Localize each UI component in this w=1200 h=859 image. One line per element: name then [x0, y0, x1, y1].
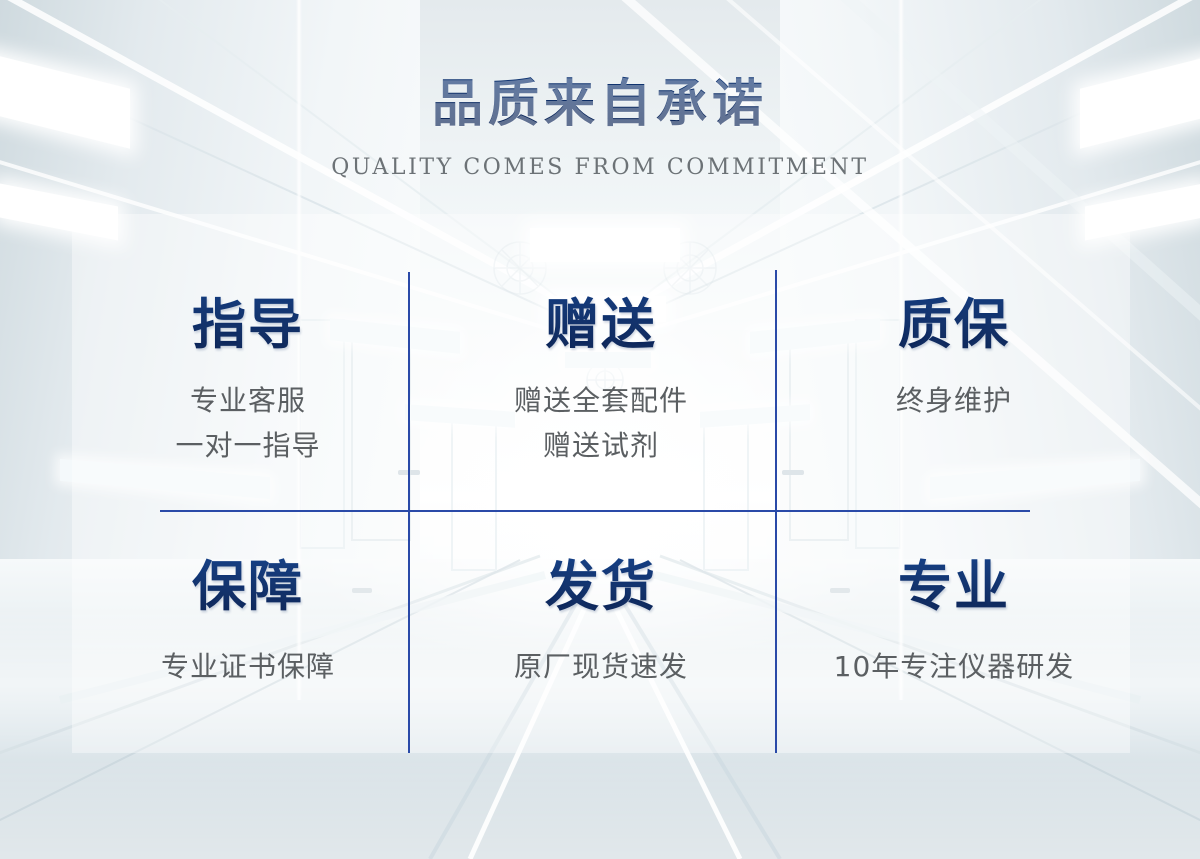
feature-description-line: 10年专注仪器研发 [778, 644, 1130, 689]
feature-description: 10年专注仪器研发 [778, 644, 1130, 689]
feature-description-line: 赠送全套配件 [425, 378, 777, 423]
feature-heading: 赠送 [425, 214, 777, 352]
feature-cell-expertise: 专业 10年专注仪器研发 [778, 500, 1130, 689]
feature-description: 终身维护 [778, 378, 1130, 423]
page-title: 品质来自承诺 [0, 0, 1200, 136]
page-subtitle: QUALITY COMES FROM COMMITMENT [0, 155, 1200, 180]
feature-heading: 指导 [72, 214, 424, 352]
promo-banner: 品质来自承诺 QUALITY COMES FROM COMMITMENT 指导 … [0, 0, 1200, 859]
feature-description-line: 专业客服 [72, 378, 424, 423]
feature-description-line: 终身维护 [778, 378, 1130, 423]
feature-description-line: 原厂现货速发 [425, 644, 777, 689]
feature-description: 专业客服 一对一指导 [72, 378, 424, 469]
feature-cell-gift: 赠送 赠送全套配件 赠送试剂 [425, 214, 777, 469]
banner-header: 品质来自承诺 QUALITY COMES FROM COMMITMENT [0, 0, 1200, 180]
feature-cell-assurance: 保障 专业证书保障 [72, 500, 424, 689]
feature-description-line: 赠送试剂 [425, 423, 777, 468]
horizontal-divider [160, 510, 1030, 512]
feature-grid: 指导 专业客服 一对一指导 赠送 赠送全套配件 赠送试剂 质保 终身维护 保障 … [72, 214, 1130, 753]
feature-heading: 保障 [72, 500, 424, 614]
feature-cell-shipping: 发货 原厂现货速发 [425, 500, 777, 689]
feature-cell-warranty: 质保 终身维护 [778, 214, 1130, 423]
feature-heading: 专业 [778, 500, 1130, 614]
feature-heading: 质保 [778, 214, 1130, 352]
feature-cell-guidance: 指导 专业客服 一对一指导 [72, 214, 424, 469]
feature-description: 专业证书保障 [72, 644, 424, 689]
feature-description: 赠送全套配件 赠送试剂 [425, 378, 777, 469]
feature-description-line: 一对一指导 [72, 423, 424, 468]
feature-heading: 发货 [425, 500, 777, 614]
feature-description-line: 专业证书保障 [72, 644, 424, 689]
feature-description: 原厂现货速发 [425, 644, 777, 689]
vertical-divider-left [408, 272, 410, 753]
